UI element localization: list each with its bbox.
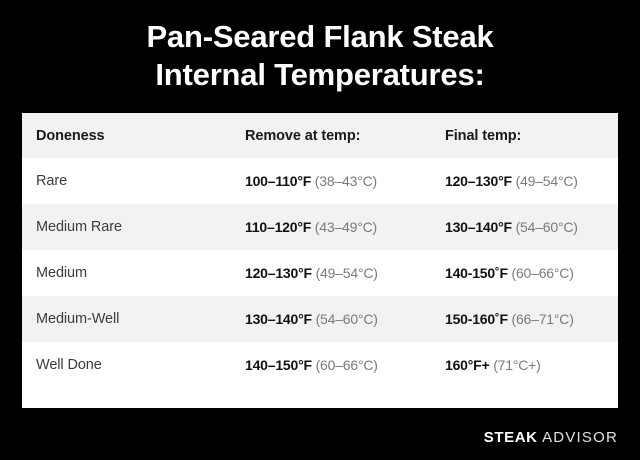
cell-remove-at-temp: 100–110°F (38–43°C) bbox=[231, 158, 431, 204]
doneness-label: Well Done bbox=[36, 357, 102, 373]
doneness-label: Medium Rare bbox=[36, 219, 122, 235]
remove-temp-fahrenheit: 110–120°F bbox=[245, 219, 311, 235]
final-temp-fahrenheit: 150-160˚F bbox=[445, 311, 508, 327]
brand-name-secondary: ADVISOR bbox=[542, 429, 618, 446]
final-temp-celsius: (71°C+) bbox=[493, 357, 540, 373]
final-temp-fahrenheit: 140-150˚F bbox=[445, 265, 508, 281]
table-row: Rare 100–110°F (38–43°C) 120–130°F (49–5… bbox=[22, 158, 618, 204]
table-row: Well Done 140–150°F (60–66°C) 160°F+ (71… bbox=[22, 342, 618, 388]
column-header-doneness: Doneness bbox=[22, 113, 231, 158]
column-header-final-temp-label: Final temp: bbox=[445, 128, 521, 144]
remove-temp-celsius: (54–60°C) bbox=[316, 311, 378, 327]
cell-remove-at-temp: 120–130°F (49–54°C) bbox=[231, 250, 431, 296]
remove-temp-fahrenheit: 100–110°F bbox=[245, 173, 311, 189]
remove-temp-celsius: (49–54°C) bbox=[316, 265, 378, 281]
cell-remove-at-temp: 140–150°F (60–66°C) bbox=[231, 342, 431, 388]
cell-doneness: Medium-Well bbox=[22, 296, 231, 342]
doneness-label: Rare bbox=[36, 173, 67, 189]
cell-final-temp: 130–140°F (54–60°C) bbox=[431, 204, 618, 250]
remove-temp-celsius: (38–43°C) bbox=[315, 173, 377, 189]
doneness-label: Medium-Well bbox=[36, 311, 119, 327]
cell-doneness: Medium Rare bbox=[22, 204, 231, 250]
brand-name-primary: STEAK bbox=[484, 429, 538, 446]
column-header-final-temp: Final temp: bbox=[431, 113, 618, 158]
brand-logo: STEAK ADVISOR bbox=[484, 430, 618, 446]
final-temp-fahrenheit: 120–130°F bbox=[445, 173, 512, 189]
cell-final-temp: 140-150˚F (60–66°C) bbox=[431, 250, 618, 296]
table-row: Medium-Well 130–140°F (54–60°C) 150-160˚… bbox=[22, 296, 618, 342]
final-temp-celsius: (49–54°C) bbox=[516, 173, 578, 189]
cell-final-temp: 120–130°F (49–54°C) bbox=[431, 158, 618, 204]
cell-final-temp: 160°F+ (71°C+) bbox=[431, 342, 618, 388]
cell-remove-at-temp: 130–140°F (54–60°C) bbox=[231, 296, 431, 342]
page-title: Pan-Seared Flank Steak Internal Temperat… bbox=[0, 0, 640, 94]
cell-doneness: Rare bbox=[22, 158, 231, 204]
remove-temp-celsius: (60–66°C) bbox=[316, 357, 378, 373]
final-temp-celsius: (66–71°C) bbox=[512, 311, 574, 327]
table-header-row: Doneness Remove at temp: Final temp: bbox=[22, 113, 618, 158]
doneness-label: Medium bbox=[36, 265, 87, 281]
table-row: Medium 120–130°F (49–54°C) 140-150˚F (60… bbox=[22, 250, 618, 296]
remove-temp-fahrenheit: 130–140°F bbox=[245, 311, 312, 327]
cell-final-temp: 150-160˚F (66–71°C) bbox=[431, 296, 618, 342]
final-temp-celsius: (54–60°C) bbox=[516, 219, 578, 235]
column-header-doneness-label: Doneness bbox=[36, 128, 105, 144]
temperature-table: Doneness Remove at temp: Final temp: Rar… bbox=[22, 113, 618, 388]
column-header-remove-at-temp-label: Remove at temp: bbox=[245, 128, 360, 144]
final-temp-celsius: (60–66°C) bbox=[512, 265, 574, 281]
remove-temp-fahrenheit: 120–130°F bbox=[245, 265, 312, 281]
cell-doneness: Well Done bbox=[22, 342, 231, 388]
final-temp-fahrenheit: 130–140°F bbox=[445, 219, 512, 235]
cell-remove-at-temp: 110–120°F (43–49°C) bbox=[231, 204, 431, 250]
final-temp-fahrenheit: 160°F+ bbox=[445, 357, 490, 373]
table-row: Medium Rare 110–120°F (43–49°C) 130–140°… bbox=[22, 204, 618, 250]
cell-doneness: Medium bbox=[22, 250, 231, 296]
page-title-line-1: Pan-Seared Flank Steak bbox=[0, 18, 640, 56]
temperature-card: Doneness Remove at temp: Final temp: Rar… bbox=[22, 113, 618, 408]
remove-temp-fahrenheit: 140–150°F bbox=[245, 357, 312, 373]
column-header-remove-at-temp: Remove at temp: bbox=[231, 113, 431, 158]
remove-temp-celsius: (43–49°C) bbox=[315, 219, 377, 235]
page-title-line-2: Internal Temperatures: bbox=[0, 56, 640, 94]
